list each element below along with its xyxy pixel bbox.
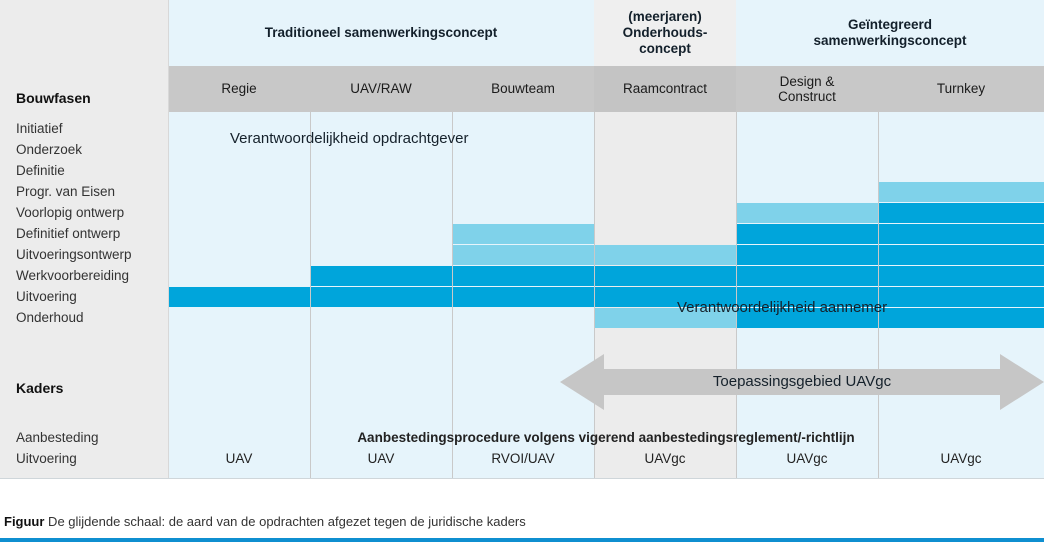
- uitvoering-value-cell: UAVgc: [736, 451, 878, 466]
- figure-caption-text: De glijdende schaal: de aard van de opdr…: [44, 514, 525, 529]
- figure-root: Traditioneel samenwerkingsconcept (meerj…: [0, 0, 1044, 542]
- uitvoering-value-cell: RVOI/UAV: [452, 451, 594, 466]
- sliding-scale-diagram: Traditioneel samenwerkingsconcept (meerj…: [0, 0, 1044, 478]
- figure-caption: Figuur De glijdende schaal: de aard van …: [4, 514, 526, 529]
- caption-area: Figuur De glijdende schaal: de aard van …: [0, 478, 1044, 542]
- uitvoering-value-cell: UAVgc: [878, 451, 1044, 466]
- uitvoering-value-cell: UAV: [310, 451, 452, 466]
- uitvoering-value-cell: UAVgc: [594, 451, 736, 466]
- bottom-accent-bar: [0, 538, 1044, 542]
- uitvoering-value-cells: UAVUAVRVOI/UAVUAVgcUAVgcUAVgc: [0, 0, 1044, 478]
- figure-caption-prefix: Figuur: [4, 514, 44, 529]
- uitvoering-value-cell: UAV: [168, 451, 310, 466]
- caption-divider: [0, 478, 1044, 479]
